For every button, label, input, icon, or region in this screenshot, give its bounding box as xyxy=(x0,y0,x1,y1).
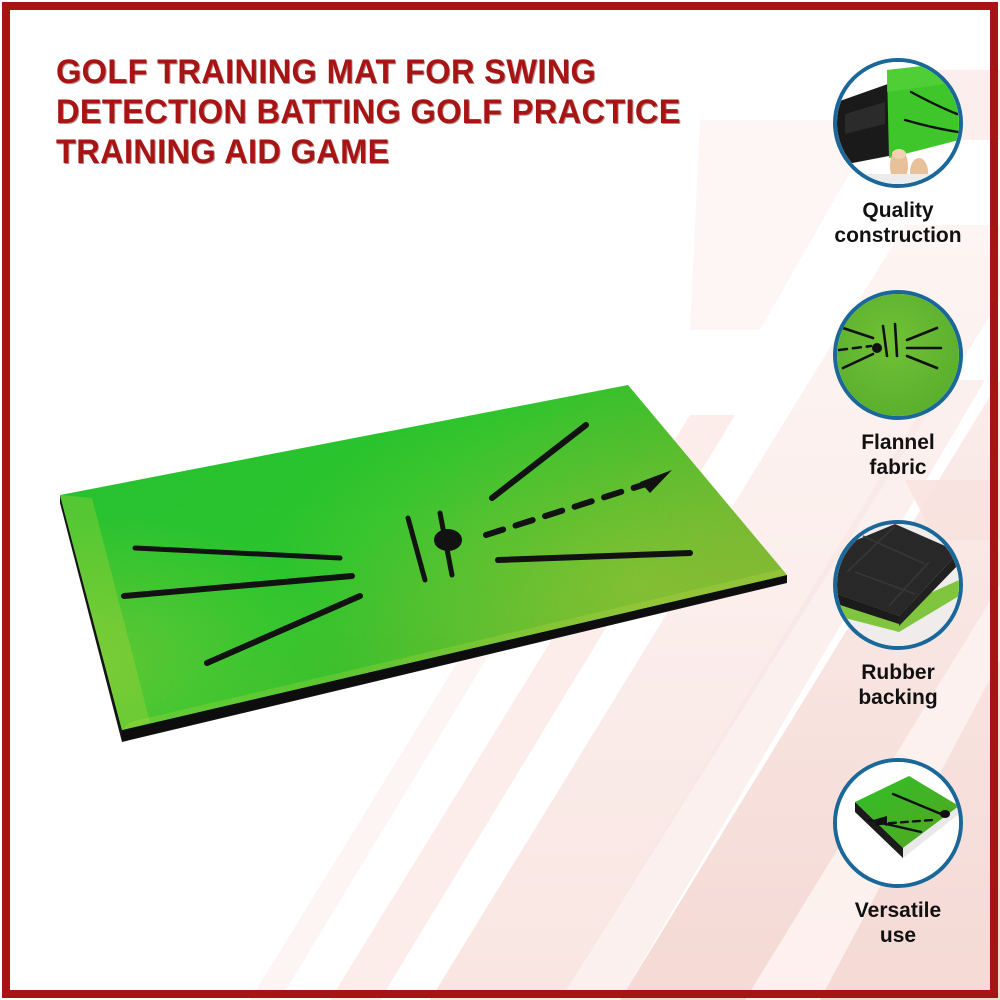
feature-item-quality-construction[interactable]: Quality construction xyxy=(800,58,996,248)
title-line-3: TRAINING AID GAME xyxy=(56,132,747,172)
product-marketing-image: GOLF TRAINING MAT FOR SWING DETECTION BA… xyxy=(0,0,1000,1000)
feature-label: Flannel fabric xyxy=(800,430,996,480)
flannel-surface-topdown-icon xyxy=(833,290,963,420)
impact-dot xyxy=(434,529,462,551)
feature-item-flannel-fabric[interactable]: Flannel fabric xyxy=(800,290,996,480)
mat-angled-view-icon xyxy=(833,758,963,888)
feature-item-rubber-backing[interactable]: Rubber backing xyxy=(800,520,996,710)
feature-list: Quality construction xyxy=(800,58,996,988)
feature-label: Versatile use xyxy=(800,898,996,948)
feature-label: Rubber backing xyxy=(800,660,996,710)
page-title: GOLF TRAINING MAT FOR SWING DETECTION BA… xyxy=(56,52,776,172)
feature-label: Quality construction xyxy=(800,198,996,248)
title-line-1: GOLF TRAINING MAT FOR SWING xyxy=(56,52,747,92)
feature-item-versatile-use[interactable]: Versatile use xyxy=(800,758,996,948)
title-line-2: DETECTION BATTING GOLF PRACTICE xyxy=(56,92,747,132)
product-hero-image xyxy=(0,330,810,790)
mat-corner-with-hand-icon xyxy=(833,58,963,188)
rubber-backing-icon xyxy=(833,520,963,650)
